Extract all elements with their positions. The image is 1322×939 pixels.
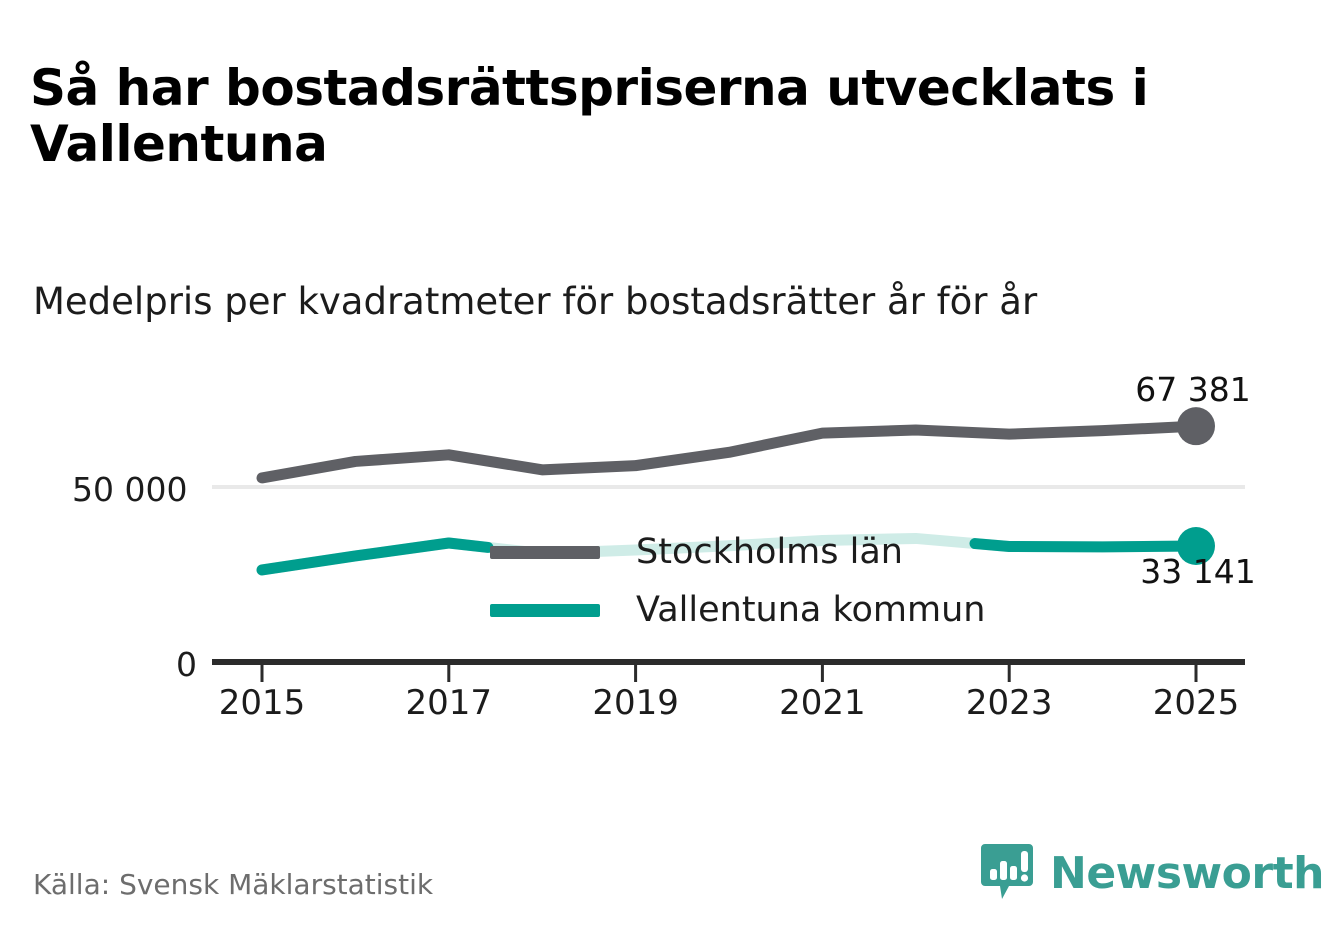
stockholm-end-value: 67 381 [1135,370,1250,409]
y-tick-label-0: 0 [176,645,197,684]
legend-swatch-stockholm [490,546,600,559]
legend-item-stockholm[interactable]: Stockholms län [490,523,1050,581]
y-tick-label-50000: 50 000 [72,470,187,509]
brand-logo[interactable]: Newsworthy [980,842,1322,904]
stockholm-end-marker [1177,407,1215,445]
vallentuna-end-value: 33 141 [1140,552,1255,591]
stockholm-line [262,426,1196,478]
x-axis-labels: 201520172019202120232025 [0,683,1322,738]
chart-subtitle: Medelpris per kvadratmeter för bostadsrä… [33,280,1293,324]
speech-bubble-bar-chart-icon [980,842,1034,904]
legend-item-vallentuna[interactable]: Vallentuna kommun [490,581,1050,639]
brand-wordmark: Newsworthy [1050,848,1322,899]
x-tick-label-2025: 2025 [1153,683,1240,723]
legend-label-stockholm: Stockholms län [636,532,903,572]
legend-label-vallentuna: Vallentuna kommun [636,590,986,630]
legend-swatch-vallentuna [490,604,600,617]
chart-page: Så har bostadsrättspriserna utvecklats i… [0,0,1322,939]
x-tick-label-2021: 2021 [779,683,866,723]
page-title: Så har bostadsrättspriserna utvecklats i… [30,60,1290,173]
x-tick-label-2015: 2015 [219,683,306,723]
source-note: Källa: Svensk Mäklarstatistik [33,868,433,901]
x-tick-label-2017: 2017 [406,683,493,723]
chart-legend: Stockholms län Vallentuna kommun [490,523,1050,639]
x-tick-label-2019: 2019 [592,683,679,723]
x-tick-label-2023: 2023 [966,683,1053,723]
vallentuna-line-segment [262,543,488,570]
